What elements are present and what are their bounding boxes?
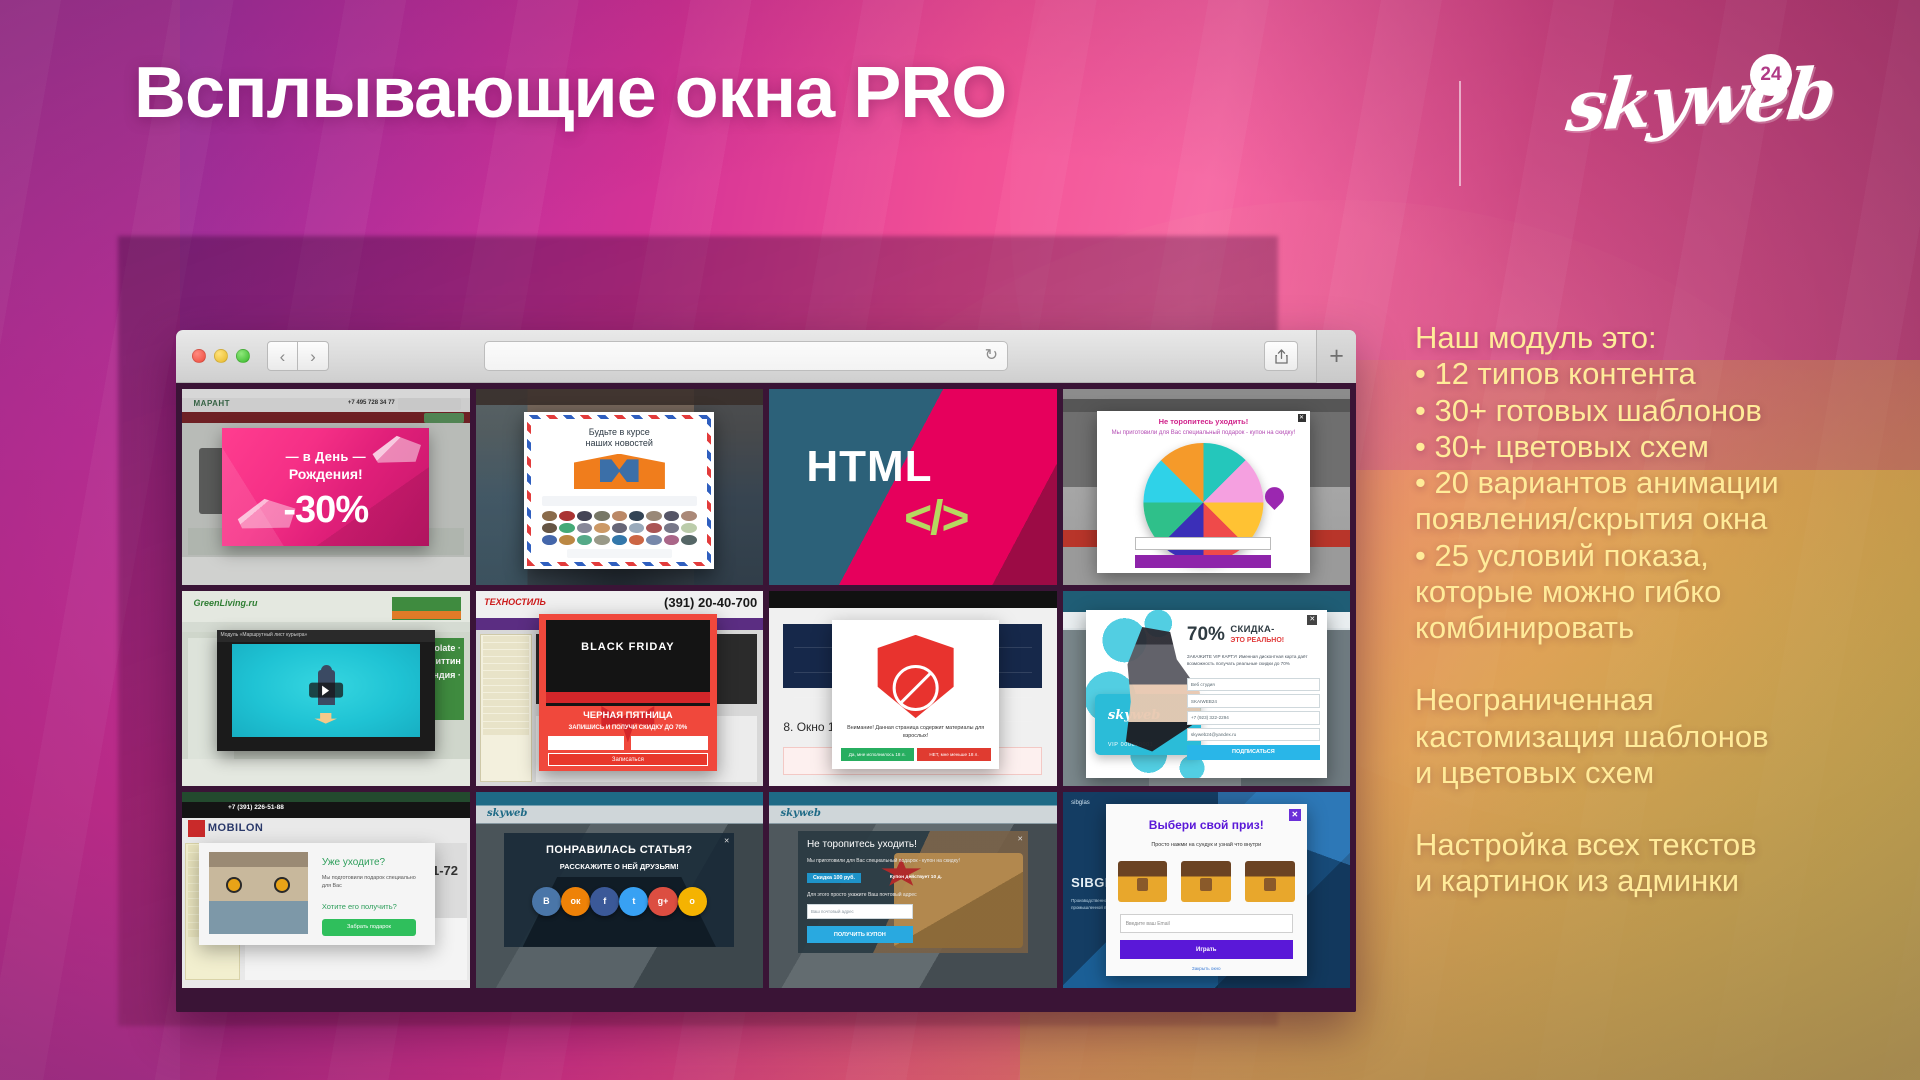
feature-bullet-1: • 12 типов контента bbox=[1415, 356, 1875, 392]
close-window-button[interactable] bbox=[192, 349, 206, 363]
navigation-buttons[interactable]: ‹ › bbox=[267, 341, 329, 371]
share-icon[interactable] bbox=[1264, 341, 1298, 371]
thumbnail-vip-discount[interactable]: ✕ 70% СКИДКА- ЭТО РЕАЛЬНО! ЗАКАЖИТЕ VIP … bbox=[1063, 591, 1351, 787]
thumbnail-prize-wheel[interactable]: ✕ Не торопитесь уходить! Мы приготовили … bbox=[1063, 389, 1351, 585]
logo-badge-24: 24 bbox=[1750, 54, 1792, 96]
popup-birthday[interactable]: — в День — Рождения! -30% bbox=[222, 428, 429, 545]
thumbnail-mobilon-gift[interactable]: +7 (391) 226-51-88 MOBILON 1-72 Уже уход… bbox=[182, 792, 470, 988]
popup-title: ЧЕРНАЯ ПЯТНИЦА bbox=[539, 710, 717, 721]
popup-prize-wheel[interactable]: ✕ Не торопитесь уходить! Мы приготовили … bbox=[1097, 411, 1310, 573]
discount-percent: 70% bbox=[1187, 624, 1225, 646]
popup-title: Выбери свой приз! bbox=[1106, 818, 1307, 832]
browser-toolbar: ‹ › ↻ + bbox=[176, 330, 1356, 383]
close-icon[interactable]: ✕ bbox=[1307, 615, 1317, 625]
address-bar[interactable]: ↻ bbox=[484, 341, 1008, 371]
field-label: Для этого просто укажите Ваш почтовый ад… bbox=[807, 892, 917, 898]
logo-wordmark: skyweb bbox=[1563, 51, 1838, 148]
popup-subtitle: ЭТО РЕАЛЬНО! bbox=[1230, 637, 1284, 644]
site-logo: GreenLiving.ru bbox=[194, 598, 258, 608]
custom-line-3: и цветовых схем bbox=[1415, 755, 1875, 791]
feature-bullet-5-cont1: которые можно гибко bbox=[1415, 574, 1875, 610]
submit-button[interactable]: Записаться bbox=[548, 753, 708, 766]
email-field[interactable]: skyweb24@yandex.ru bbox=[1187, 728, 1320, 741]
feature-bullet-4-cont: появления/скрытия окна bbox=[1415, 501, 1875, 537]
popup-title: Модуль «Маршрутный лист курьера» bbox=[217, 630, 436, 642]
popup-title: Уже уходите? bbox=[322, 857, 385, 868]
email-field[interactable]: Ваш почтовый адрес bbox=[807, 904, 913, 919]
popup-subtitle: Мы приготовили для Вас специальный подар… bbox=[1097, 430, 1310, 436]
admin-line-1: Настройка всех текстов bbox=[1415, 827, 1875, 863]
claim-gift-button[interactable]: Забрать подарок bbox=[322, 919, 416, 936]
email-field[interactable]: Введите ваш Email bbox=[1120, 914, 1293, 933]
popup-adult-warning[interactable]: Внимание! Данная страница содержит матер… bbox=[832, 620, 999, 769]
popup-title: Не торопитесь уходить! bbox=[807, 839, 917, 850]
feature-bullet-5-cont2: комбинировать bbox=[1415, 610, 1875, 646]
company-field[interactable]: Веб студия bbox=[1187, 678, 1320, 691]
thumbnail-adult-warning[interactable]: 8. Окно 18+ Внимание! Данная страница со… bbox=[769, 591, 1057, 787]
feature-bullet-3: • 30+ цветовых схем bbox=[1415, 429, 1875, 465]
custom-line-2: кастомизация шаблонов bbox=[1415, 719, 1875, 755]
thumbnail-vk-news[interactable]: Будьте в курсе наших новостей bbox=[476, 389, 764, 585]
thumbnail-choose-prize[interactable]: sibglas SIBGLAS Производственно-торговая… bbox=[1063, 792, 1351, 988]
popup-subtitle: Мы приготовили для Вас специальный подар… bbox=[807, 858, 977, 864]
feature-bullet-4: • 20 вариантов анимации bbox=[1415, 465, 1875, 501]
minimize-window-button[interactable] bbox=[214, 349, 228, 363]
submit-button[interactable] bbox=[1135, 555, 1271, 568]
popup-subtitle: ЗАПИШИСЬ И ПОЛУЧИ СКИДКУ ДО 70% bbox=[539, 725, 717, 731]
panel-spacer-2 bbox=[1415, 791, 1875, 827]
hero-number: 1-72 bbox=[432, 863, 458, 878]
site-phone: +7 495 728 34 77 bbox=[348, 400, 395, 406]
popup-vk-subscribe[interactable]: Будьте в курсе наших новостей bbox=[524, 412, 714, 569]
feature-bullet-5: • 25 условий показа, bbox=[1415, 538, 1875, 574]
wheel-pointer-icon bbox=[1261, 483, 1288, 510]
code-glyph-icon: </> bbox=[904, 491, 967, 546]
features-intro: Наш модуль это: bbox=[1415, 320, 1875, 356]
slide-stage: Всплывающие окна PRO skyweb 24 ‹ › ↻ bbox=[0, 0, 1920, 1080]
googleplus-icon[interactable]: g+ bbox=[648, 887, 677, 916]
popup-black-friday[interactable]: BLACK FRIDAY ЧЕРНАЯ ПЯТНИЦА ЗАПИШИСЬ И П… bbox=[539, 614, 717, 771]
get-coupon-button[interactable]: ПОЛУЧИТЬ КУПОН bbox=[807, 926, 913, 943]
subscribe-button[interactable]: ПОДПИСАТЬСЯ bbox=[1187, 745, 1320, 760]
popup-vip-card[interactable]: ✕ 70% СКИДКА- ЭТО РЕАЛЬНО! ЗАКАЖИТЕ VIP … bbox=[1086, 610, 1328, 778]
popup-line2: Рождения! bbox=[222, 466, 429, 482]
site-logo-small: sibglas bbox=[1071, 800, 1090, 806]
deny-age-button[interactable]: НЕТ, мне меньше 18 л. bbox=[917, 748, 990, 761]
treasure-chests[interactable] bbox=[1118, 861, 1295, 902]
close-window-link[interactable]: Закрыть окно bbox=[1106, 966, 1307, 971]
popup-gift[interactable]: Уже уходите? Мы подготовили подарок спец… bbox=[199, 843, 435, 945]
site-logo: ТЕХНОСТИЛЬ bbox=[484, 597, 546, 607]
popup-question: Хотите его получить? bbox=[322, 902, 397, 911]
maximize-window-button[interactable] bbox=[236, 349, 250, 363]
popup-line1: Будьте в курсе bbox=[531, 427, 707, 437]
feature-bullet-2: • 30+ готовых шаблонов bbox=[1415, 393, 1875, 429]
header-divider bbox=[1459, 81, 1461, 186]
popup-subtitle: РАССКАЖИТЕ О НЕЙ ДРУЗЬЯМ! bbox=[504, 862, 734, 871]
traffic-lights[interactable] bbox=[192, 349, 250, 363]
reload-icon[interactable]: ↻ bbox=[985, 348, 998, 364]
site-phone: (391) 20-40-700 bbox=[664, 595, 757, 610]
html-title: HTML bbox=[806, 442, 932, 492]
name-field[interactable]: SKAIWEB24 bbox=[1187, 694, 1320, 707]
panel-spacer-1 bbox=[1415, 646, 1875, 682]
popup-social-share[interactable]: ✕ ПОНРАВИЛАСЬ СТАТЬЯ? РАССКАЖИТЕ О НЕЙ Д… bbox=[504, 833, 734, 946]
thumbnail-grid: МАРАНТ +7 495 728 34 77 — в День — Рожде… bbox=[176, 383, 1356, 1012]
phone-field[interactable] bbox=[631, 736, 708, 750]
thumbnail-greenliving-video[interactable]: GreenLiving.ru chocolate · leonat · итти… bbox=[182, 591, 470, 787]
ok-icon[interactable]: ок bbox=[561, 887, 590, 916]
custom-line-1: Неограниченная bbox=[1415, 682, 1875, 718]
chest-icon-1[interactable] bbox=[1118, 861, 1168, 902]
skyweb-logo: skyweb 24 bbox=[1568, 54, 1828, 164]
name-field[interactable] bbox=[548, 736, 625, 750]
admin-line-2: и картинок из админки bbox=[1415, 863, 1875, 899]
popup-title: Не торопитесь уходить! bbox=[1097, 417, 1310, 426]
social-buttons[interactable]: В ок f t g+ o bbox=[532, 888, 707, 915]
facebook-icon[interactable]: f bbox=[590, 887, 619, 916]
prohibition-icon bbox=[892, 665, 939, 712]
popup-choose-prize[interactable]: ✕ Выбери свой приз! Просто нажми на сунд… bbox=[1106, 804, 1307, 976]
browser-window: ‹ › ↻ + МАРАНТ +7 495 728 34 77 bbox=[176, 330, 1356, 1012]
phone-field[interactable]: +7 (923) 322-2294 bbox=[1187, 711, 1320, 724]
site-logo: skyweb bbox=[781, 808, 821, 819]
thumbnail-html-card[interactable]: HTML </> bbox=[769, 389, 1057, 585]
cat-photo bbox=[209, 852, 308, 933]
site-logo: skyweb bbox=[487, 808, 527, 819]
features-panel: Наш модуль это: • 12 типов контента • 30… bbox=[1415, 320, 1875, 900]
confirm-age-button[interactable]: Да, мне исполнилось 18 л. bbox=[841, 748, 914, 761]
chest-icon-2[interactable] bbox=[1181, 861, 1231, 902]
thumbnail-coupon[interactable]: skyweb ✕ Не торопитесь уходить! Мы приго… bbox=[769, 792, 1057, 988]
back-icon[interactable]: ‹ bbox=[267, 341, 298, 371]
popup-banner: BLACK FRIDAY bbox=[546, 641, 710, 653]
email-field[interactable] bbox=[1135, 537, 1271, 550]
popup-video[interactable]: Модуль «Маршрутный лист курьера» bbox=[217, 630, 436, 751]
play-icon[interactable] bbox=[309, 683, 343, 698]
site-phone: +7 (391) 226-51-88 bbox=[228, 804, 284, 811]
popup-text: Внимание! Данная страница содержит матер… bbox=[842, 724, 989, 740]
vk-icon[interactable]: В bbox=[532, 887, 561, 916]
gift-box-photo bbox=[894, 853, 1023, 948]
twitter-icon[interactable]: t bbox=[619, 887, 648, 916]
popup-title: ПОНРАВИЛАСЬ СТАТЬЯ? bbox=[504, 844, 734, 856]
thumbnail-marant-birthday[interactable]: МАРАНТ +7 495 728 34 77 — в День — Рожде… bbox=[182, 389, 470, 585]
popup-line2: наших новостей bbox=[531, 438, 707, 448]
page-title: Всплывающие окна PRO bbox=[134, 56, 1006, 132]
popup-note: ЗАКАЖИТЕ VIP КАРТУ! Именная дисконтная к… bbox=[1187, 654, 1320, 668]
thumbnail-social-share[interactable]: skyweb ✕ ПОНРАВИЛАСЬ СТАТЬЯ? РАССКАЖИТЕ … bbox=[476, 792, 764, 988]
popup-text: Мы подготовили подарок специально для Ва… bbox=[322, 874, 426, 891]
thumbnail-black-friday[interactable]: ТЕХНОСТИЛЬ (391) 20-40-700 BLACK FRIDAY … bbox=[476, 591, 764, 787]
ribbon-decor bbox=[546, 692, 710, 703]
popup-coupon[interactable]: ✕ Не торопитесь уходить! Мы приготовили … bbox=[798, 831, 1028, 952]
play-button[interactable]: Играть bbox=[1120, 940, 1293, 959]
share-more-icon[interactable]: o bbox=[678, 887, 707, 916]
popup-discount: -30% bbox=[222, 489, 429, 532]
forward-icon[interactable]: › bbox=[298, 341, 329, 371]
site-logo: МАРАНТ bbox=[194, 399, 231, 408]
new-tab-button[interactable]: + bbox=[1316, 330, 1356, 383]
chest-icon-3[interactable] bbox=[1245, 861, 1295, 902]
download-arrow-icon bbox=[314, 713, 337, 724]
popup-title: СКИДКА- bbox=[1230, 624, 1274, 635]
video-screen[interactable] bbox=[232, 644, 420, 736]
close-icon[interactable]: ✕ bbox=[1017, 835, 1023, 843]
popup-line1: — в День — bbox=[222, 449, 429, 464]
site-logo: MOBILON bbox=[208, 822, 263, 834]
validity-text: Купон действует 10 д. bbox=[890, 875, 942, 880]
avatar-grid bbox=[542, 511, 697, 545]
popup-subtitle: Просто нажми на сундук и узнай что внутр… bbox=[1116, 842, 1297, 848]
discount-badge: Скидка 100 руб. bbox=[807, 873, 861, 883]
